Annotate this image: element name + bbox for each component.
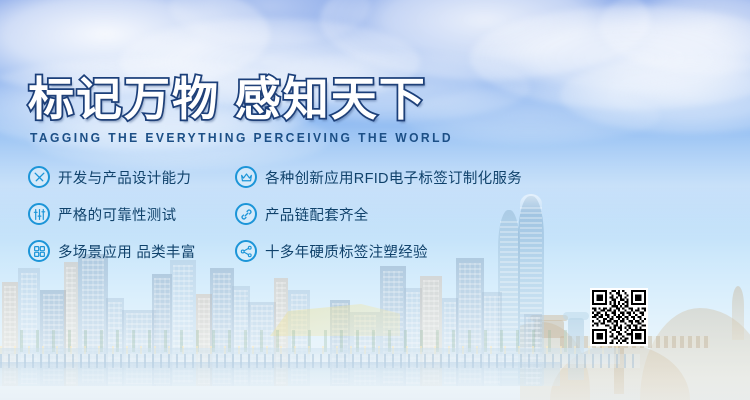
qr-code-matrix xyxy=(592,290,646,344)
feature-label: 多场景应用 品类丰富 xyxy=(58,241,196,262)
page-subtitle: TAGGING THE EVERYTHING PERCEIVING THE WO… xyxy=(30,130,453,145)
cloud-shape xyxy=(320,0,650,80)
sliders-icon xyxy=(28,203,50,225)
qr-code[interactable] xyxy=(590,288,648,346)
feature-row: 严格的可靠性测试 产品链配套齐全 xyxy=(0,203,600,240)
promo-banner: 标记万物 感知天下 TAGGING THE EVERYTHING PERCEIV… xyxy=(0,0,750,400)
feature-label: 严格的可靠性测试 xyxy=(58,204,176,225)
chain-link-icon xyxy=(235,203,257,225)
crown-icon xyxy=(235,166,257,188)
grid-icon xyxy=(28,240,50,262)
feature-row: 开发与产品设计能力 各种创新应用RFID电子标签订制化服务 xyxy=(0,166,600,203)
feature-item-supply-chain: 产品链配套齐全 xyxy=(235,203,369,225)
cloud-shape xyxy=(170,0,370,46)
feature-item-multi-scenario: 多场景应用 品类丰富 xyxy=(28,240,196,262)
crossed-tools-icon xyxy=(28,166,50,188)
feature-label: 各种创新应用RFID电子标签订制化服务 xyxy=(265,167,522,188)
feature-list: 开发与产品设计能力 各种创新应用RFID电子标签订制化服务 xyxy=(0,166,600,277)
feature-item-rfid-customization: 各种创新应用RFID电子标签订制化服务 xyxy=(235,166,522,188)
cloud-shape xyxy=(600,0,750,74)
feature-item-design-capability: 开发与产品设计能力 xyxy=(28,166,191,188)
rock-spire xyxy=(732,286,744,340)
feature-item-molding-experience: 十多年硬质标签注塑经验 xyxy=(235,240,428,262)
water-surface xyxy=(0,362,560,386)
feature-row: 多场景应用 品类丰富 十多年硬质标签注塑经验 xyxy=(0,240,600,277)
feature-item-reliability-testing: 严格的可靠性测试 xyxy=(28,203,176,225)
page-title: 标记万物 感知天下 xyxy=(28,76,427,122)
share-node-icon xyxy=(235,240,257,262)
feature-label: 十多年硬质标签注塑经验 xyxy=(265,241,428,262)
feature-label: 开发与产品设计能力 xyxy=(58,167,191,188)
cloud-shape xyxy=(470,6,750,110)
feature-label: 产品链配套齐全 xyxy=(265,204,369,225)
